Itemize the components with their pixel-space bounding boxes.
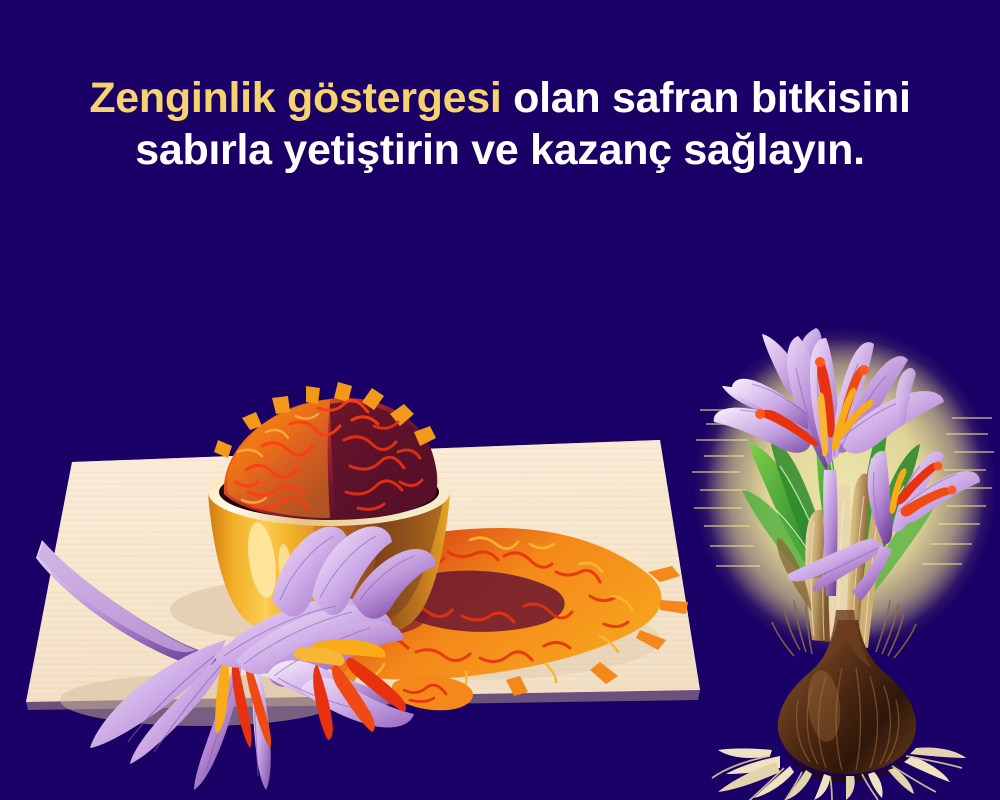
headline-line-1: Zenginlik göstergesi olan safran bitkisi… <box>0 72 1000 124</box>
headline-line1-rest: olan safran bitkisini <box>501 74 910 122</box>
headline: Zenginlik göstergesi olan safran bitkisi… <box>0 72 1000 177</box>
saffron-heap <box>214 382 437 520</box>
headline-accent: Zenginlik göstergesi <box>89 74 501 122</box>
banner-canvas: Zenginlik göstergesi olan safran bitkisi… <box>0 0 1000 800</box>
headline-line-2: sabırla yetiştirin ve kazanç sağlayın. <box>0 124 1000 176</box>
